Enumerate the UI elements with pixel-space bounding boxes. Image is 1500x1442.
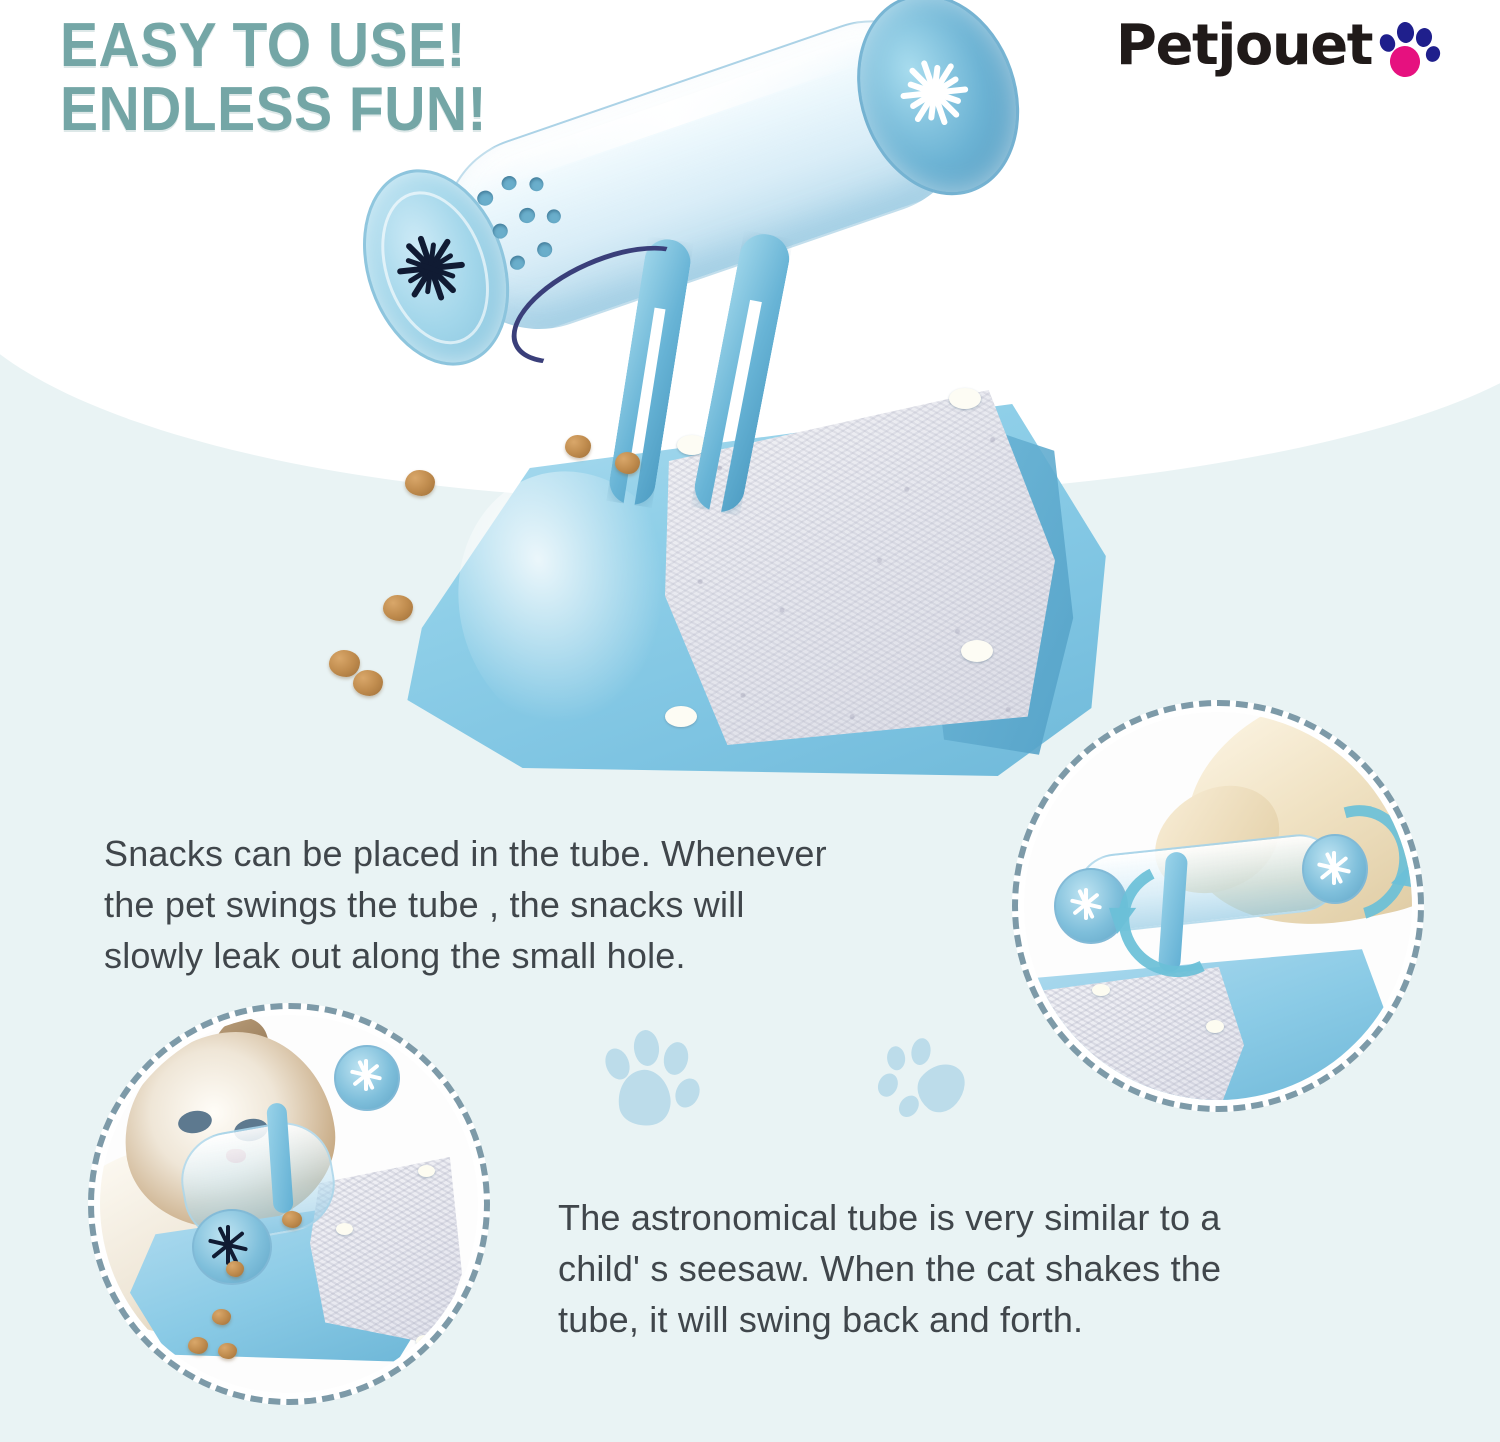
paw-toe-3-icon [1414,27,1433,48]
paw-logo-icon [1380,18,1438,74]
description-block-2: The astronomical tube is very similar to… [558,1192,1408,1345]
paw-toe-2-icon [1396,21,1415,44]
mini-fastener-dot [1092,984,1110,996]
treat-hole [528,175,546,193]
paw-toe-icon [886,1045,906,1071]
treat-hole [491,222,510,241]
description-1-line-1: Snacks can be placed in the tube. Whenev… [104,828,994,879]
description-2-line-2: child' s seesaw. When the cat shakes the [558,1243,1408,1294]
treat-hole [545,207,563,225]
inset-photo-swinging-tube [1012,700,1424,1112]
kibble-piece [383,595,413,621]
kibble-piece [329,650,360,677]
brand-wordmark: Petjouet [1116,18,1372,74]
hero-product-image [365,140,1155,830]
brand-logo: Petjouet [1116,18,1438,74]
treat-hole [517,206,537,225]
felt-fastener-dot [949,388,981,409]
paw-toe-icon [909,1037,932,1067]
paw-toe-icon [874,1070,901,1100]
description-2-line-1: The astronomical tube is very similar to… [558,1192,1408,1243]
mini-fastener-dot [336,1223,353,1235]
paw-toe-icon [661,1040,691,1077]
kibble-piece [615,452,640,474]
description-1-line-3: slowly leak out along the small hole. [104,930,994,981]
kibble-piece [218,1343,237,1359]
headline-line-2: ENDLESS FUN! [60,78,487,142]
inset-left-photo [100,1015,478,1393]
inset-right-photo [1024,712,1412,1100]
description-1-line-2: the pet swings the tube , the snacks wil… [104,879,994,930]
kibble-piece [212,1309,231,1325]
kibble-piece [226,1261,244,1277]
kibble-piece [188,1337,208,1354]
treat-hole [508,254,527,272]
treat-hole [475,189,495,208]
treat-hole [535,240,554,259]
paw-print-watermark [604,1028,724,1143]
kibble-piece [565,435,591,458]
promo-page: EASY TO USE! ENDLESS FUN! Petjouet [0,0,1500,1442]
paw-toe-icon [632,1029,661,1067]
page-headline: EASY TO USE! ENDLESS FUN! [60,14,487,142]
felt-fastener-dot [961,640,993,662]
description-block-1: Snacks can be placed in the tube. Whenev… [104,828,994,981]
treat-hole [500,174,519,192]
paw-print-watermark [871,1030,979,1135]
felt-fastener-dot [665,706,697,727]
description-2-line-3: tube, it will swing back and forth. [558,1294,1408,1345]
mini-fastener-dot [418,1165,435,1177]
kibble-piece [405,470,435,496]
headline-line-1: EASY TO USE! [60,14,487,78]
inset-photo-cat-with-toy [88,1003,490,1405]
mini-fastener-dot [1206,1020,1224,1033]
paw-toe-icon [671,1075,704,1112]
mini-fastener-dot [416,1335,433,1347]
kibble-piece [282,1211,302,1228]
kibble-piece [353,670,383,696]
